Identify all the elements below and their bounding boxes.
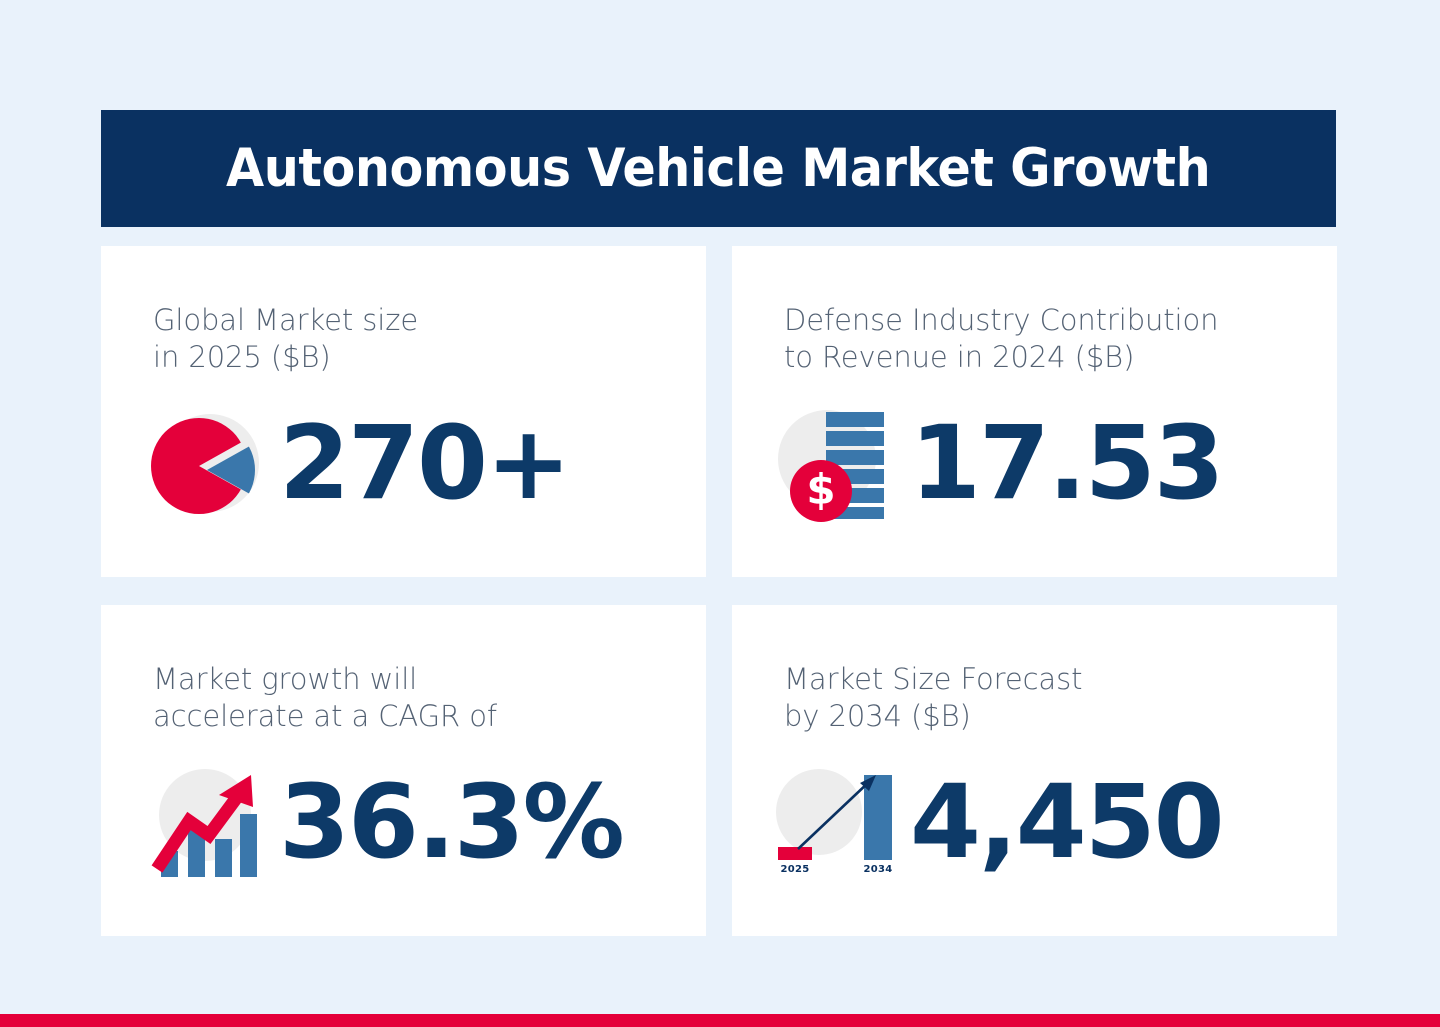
coin-stack-bar [826, 431, 884, 446]
coin-stack-dollar-icon: $ [778, 404, 896, 524]
rising-arrow-icon [147, 765, 265, 883]
stat-card-global-market-size: Global Market size in 2025 ($B) 270+ [101, 246, 706, 577]
forecast-tick-2034: 2034 [860, 864, 896, 875]
stat-card-body: 2025 2034 4,450 [778, 753, 1327, 893]
stat-card-label: Market Size Forecast by 2034 ($B) [784, 661, 1337, 735]
stat-card-market-size-forecast: Market Size Forecast by 2034 ($B) 2025 2… [732, 605, 1337, 936]
dollar-coin-icon: $ [790, 460, 852, 522]
stat-card-defense-industry-contribution: Defense Industry Contribution to Revenue… [732, 246, 1337, 577]
stat-card-value: 17.53 [910, 413, 1223, 515]
stat-card-body: $ 17.53 [778, 394, 1327, 534]
bottom-accent-stripe [0, 1014, 1440, 1027]
stat-card-label: Global Market size in 2025 ($B) [153, 302, 706, 376]
stat-card-body: 270+ [147, 394, 696, 534]
growth-chart-arrow-icon [147, 763, 265, 883]
coin-stack-bar [826, 412, 884, 427]
stat-card-label: Market growth will accelerate at a CAGR … [153, 661, 706, 735]
stat-card-value: 36.3% [279, 772, 623, 874]
page-title: Autonomous Vehicle Market Growth [226, 142, 1210, 195]
stat-card-cagr: Market growth will accelerate at a CAGR … [101, 605, 706, 936]
forecast-tick-2025: 2025 [778, 864, 812, 875]
infographic-root: Autonomous Vehicle Market Growth Global … [0, 0, 1440, 1027]
pie-chart-icon [147, 404, 265, 524]
stat-card-value: 270+ [279, 413, 569, 515]
stat-card-value: 4,450 [910, 772, 1223, 874]
stat-card-body: 36.3% [147, 753, 696, 893]
forecast-bar-chart-icon: 2025 2034 [778, 763, 896, 883]
stat-card-label: Defense Industry Contribution to Revenue… [784, 302, 1337, 376]
stat-card-grid: Global Market size in 2025 ($B) 270+ Def… [101, 246, 1337, 936]
header-banner: Autonomous Vehicle Market Growth [101, 110, 1336, 227]
